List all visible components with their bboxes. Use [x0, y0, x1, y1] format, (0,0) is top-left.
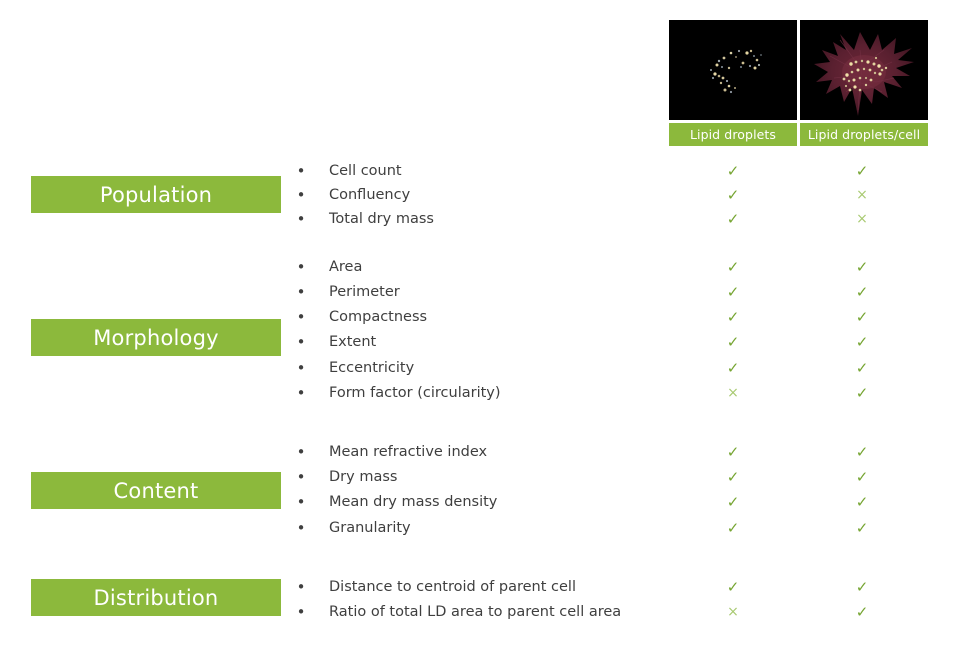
feature-label: Extent: [329, 330, 376, 355]
feature-row: • Dry mass ✓ ✓: [296, 465, 956, 490]
support-mark-col0: ✓: [713, 280, 753, 305]
column-header-lipid-droplets-per-cell: Lipid droplets/cell: [800, 20, 928, 146]
support-mark-col0: ✓: [713, 575, 753, 600]
feature-label: Mean dry mass density: [329, 490, 497, 515]
group-chip-morphology: Morphology: [31, 319, 281, 356]
feature-label: Compactness: [329, 305, 427, 330]
lipid-droplets-image: [669, 20, 797, 120]
support-mark-col1: ✓: [842, 356, 882, 381]
support-mark-col1: ✓: [842, 381, 882, 406]
bullet-icon: •: [296, 280, 306, 305]
support-mark-col0: ✓: [713, 305, 753, 330]
support-mark-col1: ✓: [842, 465, 882, 490]
bullet-icon: •: [296, 207, 306, 232]
feature-row: • Perimeter ✓ ✓: [296, 280, 956, 305]
bullet-icon: •: [296, 255, 306, 280]
support-mark-col1: ✓: [842, 600, 882, 625]
feature-label: Area: [329, 255, 362, 280]
support-mark-col0: ✓: [713, 207, 753, 232]
support-mark-col1: ✓: [842, 440, 882, 465]
support-mark-col0: ✓: [713, 356, 753, 381]
group-chip-label: Population: [100, 183, 212, 207]
bullet-icon: •: [296, 356, 306, 381]
bullet-icon: •: [296, 159, 306, 184]
bullet-icon: •: [296, 381, 306, 406]
feature-label: Granularity: [329, 516, 411, 541]
support-mark-col0: ×: [713, 381, 753, 406]
lipid-droplets-per-cell-image: [800, 20, 928, 120]
support-mark-col1: ×: [842, 207, 882, 232]
feature-label: Cell count: [329, 159, 402, 184]
support-mark-col0: ✓: [713, 440, 753, 465]
support-mark-col0: ✓: [713, 490, 753, 515]
group-chip-label: Distribution: [94, 586, 219, 610]
feature-row: • Mean refractive index ✓ ✓: [296, 440, 956, 465]
feature-row: • Distance to centroid of parent cell ✓ …: [296, 575, 956, 600]
bullet-icon: •: [296, 490, 306, 515]
support-mark-col1: ✓: [842, 575, 882, 600]
support-mark-col1: ✓: [842, 280, 882, 305]
support-mark-col1: ×: [842, 183, 882, 208]
bullet-icon: •: [296, 516, 306, 541]
feature-label: Distance to centroid of parent cell: [329, 575, 576, 600]
lipid-droplets-per-cell-micrograph: [800, 20, 928, 120]
column-header-lipid-droplets: Lipid droplets: [669, 20, 797, 146]
feature-row: • Extent ✓ ✓: [296, 330, 956, 355]
column-label: Lipid droplets: [669, 123, 797, 146]
bullet-icon: •: [296, 305, 306, 330]
column-label: Lipid droplets/cell: [800, 123, 928, 146]
feature-label: Mean refractive index: [329, 440, 487, 465]
feature-row: • Mean dry mass density ✓ ✓: [296, 490, 956, 515]
support-mark-col1: ✓: [842, 305, 882, 330]
group-chip-content: Content: [31, 472, 281, 509]
feature-row: • Form factor (circularity) × ✓: [296, 381, 956, 406]
support-mark-col0: ✓: [713, 255, 753, 280]
feature-row: • Ratio of total LD area to parent cell …: [296, 600, 956, 625]
feature-label: Total dry mass: [329, 207, 434, 232]
support-mark-col1: ✓: [842, 330, 882, 355]
bullet-icon: •: [296, 183, 306, 208]
support-mark-col0: ✓: [713, 465, 753, 490]
support-mark-col0: ×: [713, 600, 753, 625]
group-chip-label: Morphology: [93, 326, 219, 350]
support-mark-col0: ✓: [713, 183, 753, 208]
feature-row: • Cell count ✓ ✓: [296, 159, 956, 184]
feature-label: Perimeter: [329, 280, 400, 305]
feature-label: Confluency: [329, 183, 410, 208]
feature-label: Ratio of total LD area to parent cell ar…: [329, 600, 621, 625]
bullet-icon: •: [296, 440, 306, 465]
support-mark-col1: ✓: [842, 516, 882, 541]
feature-label: Eccentricity: [329, 356, 414, 381]
feature-row: • Compactness ✓ ✓: [296, 305, 956, 330]
comparison-table-slide: Lipid droplets: [0, 0, 966, 646]
support-mark-col1: ✓: [842, 255, 882, 280]
support-mark-col0: ✓: [713, 516, 753, 541]
feature-row: • Total dry mass ✓ ×: [296, 207, 956, 232]
support-mark-col0: ✓: [713, 159, 753, 184]
feature-row: • Area ✓ ✓: [296, 255, 956, 280]
feature-row: • Granularity ✓ ✓: [296, 516, 956, 541]
feature-label: Dry mass: [329, 465, 397, 490]
lipid-droplets-micrograph: [669, 20, 797, 120]
group-chip-population: Population: [31, 176, 281, 213]
feature-row: • Eccentricity ✓ ✓: [296, 356, 956, 381]
bullet-icon: •: [296, 330, 306, 355]
bullet-icon: •: [296, 600, 306, 625]
support-mark-col0: ✓: [713, 330, 753, 355]
bullet-icon: •: [296, 575, 306, 600]
group-chip-label: Content: [114, 479, 199, 503]
feature-row: • Confluency ✓ ×: [296, 183, 956, 208]
group-chip-distribution: Distribution: [31, 579, 281, 616]
support-mark-col1: ✓: [842, 159, 882, 184]
bullet-icon: •: [296, 465, 306, 490]
support-mark-col1: ✓: [842, 490, 882, 515]
feature-label: Form factor (circularity): [329, 381, 501, 406]
